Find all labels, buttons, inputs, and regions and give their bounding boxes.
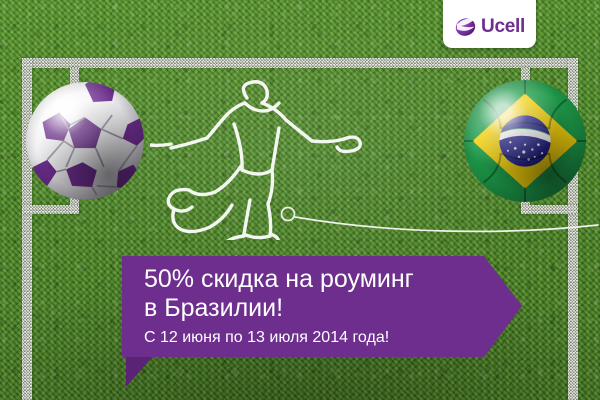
promo-text-block: 50% скидка на роуминг в Бразилии! С 12 и… bbox=[144, 265, 470, 348]
pitch-line-top bbox=[22, 58, 578, 68]
purple-white-soccer-ball bbox=[26, 82, 144, 200]
brazil-flag-soccer-ball bbox=[464, 80, 586, 202]
ucell-wordmark: Ucell bbox=[481, 17, 525, 36]
promo-speech-banner: 50% скидка на роуминг в Бразилии! С 12 и… bbox=[122, 256, 522, 357]
promo-headline-line-2: в Бразилии! bbox=[144, 294, 470, 323]
pitch-line-left bbox=[22, 58, 32, 400]
ball-trajectory-trail bbox=[270, 195, 600, 235]
pitch-penalty-box-bottom-left bbox=[22, 205, 79, 214]
ucell-logo-plate[interactable]: Ucell bbox=[443, 0, 536, 48]
promo-headline-line-1: 50% скидка на роуминг bbox=[144, 265, 470, 294]
promo-validity-dates: С 12 июня по 13 июля 2014 года! bbox=[144, 328, 470, 348]
ucell-roaming-promo-banner: Ucell 50% скидка на роуминг в Бразилии! … bbox=[0, 0, 600, 400]
ucell-sphere-icon bbox=[454, 15, 477, 38]
